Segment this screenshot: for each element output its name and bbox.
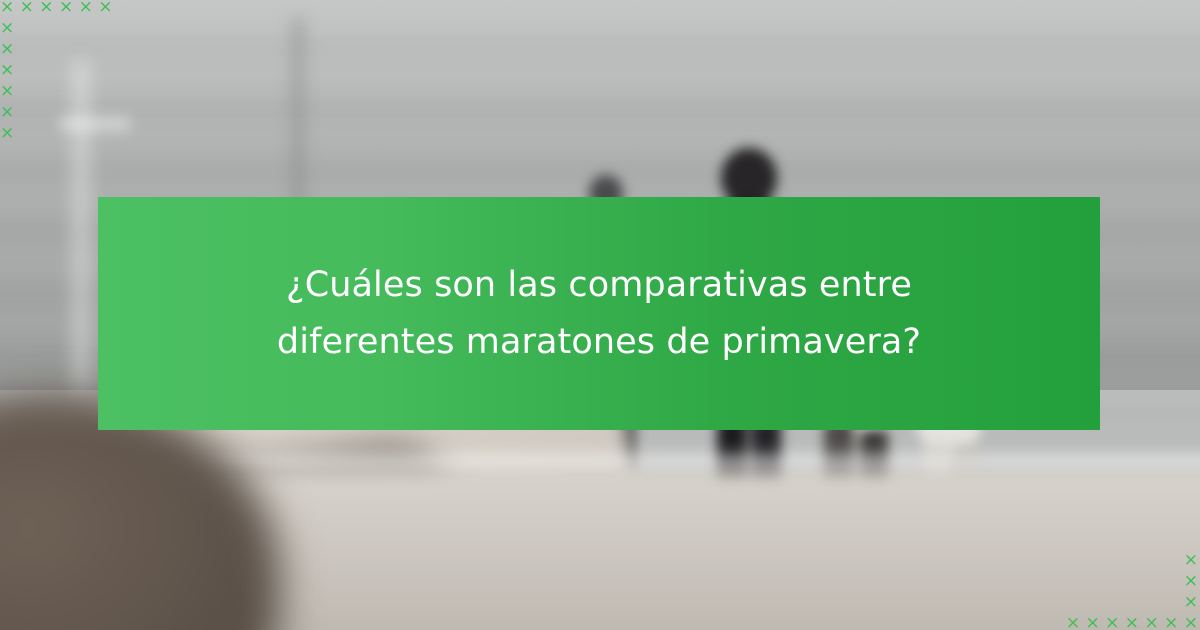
decorative-crosses-top-left-icon: × × × × × × × × × × × × [0, 0, 112, 144]
page-title: ¿Cuáles son las comparativas entre difer… [199, 257, 999, 370]
decorative-crosses-bottom-right-icon: × × × × × × × × × × [1066, 550, 1198, 630]
headline-banner: ¿Cuáles son las comparativas entre difer… [98, 197, 1100, 430]
social-share-card: × × × × × × × × × × × × × × × × × × × × … [0, 0, 1200, 630]
background-ground [140, 470, 1200, 630]
